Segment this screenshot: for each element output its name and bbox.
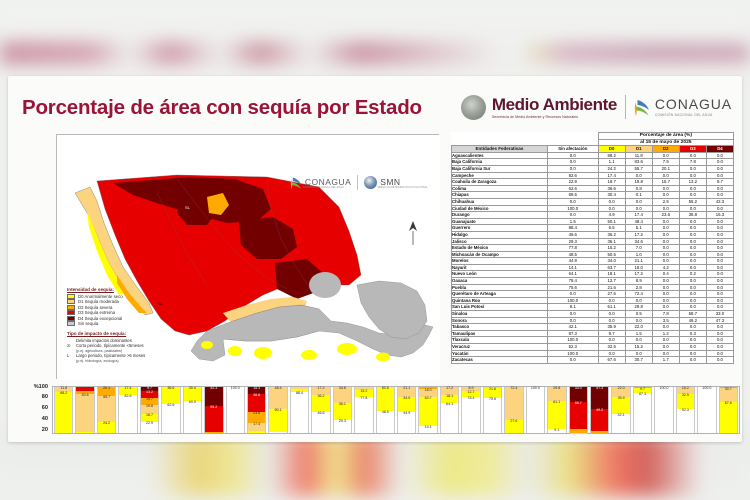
blurred-chart-bars — [150, 434, 750, 496]
bar-segment-value: 77.8 — [355, 397, 372, 401]
stacked-bar[interactable]: 21.134.044.9 — [397, 387, 416, 433]
column-header-d4[interactable]: D4 — [706, 146, 733, 153]
bar-slot[interactable]: 21.134.044.9 — [396, 387, 417, 433]
bar-segment-d2 — [205, 432, 222, 433]
table-row[interactable]: Baja California0.01.183.67.57.80.0 — [452, 159, 734, 166]
bar-segment-value: 27.6 — [505, 420, 522, 424]
cell-d2: 23.6 — [652, 212, 679, 219]
cell-sin-afectacion: 100.0 — [547, 350, 598, 357]
table-row[interactable]: Campeche82.617.40.00.00.00.0 — [452, 172, 734, 179]
bar-segment-d4: 47.3 — [591, 387, 608, 409]
bar-segment-value: 87.3 — [634, 393, 651, 397]
cell-d0: 88.2 — [598, 152, 625, 159]
bar-segment-value: 100.0 — [698, 387, 715, 391]
stacked-bar[interactable]: 18.063.714.1 — [418, 387, 437, 433]
bar-slot[interactable]: 17.236.246.6 — [310, 387, 331, 433]
column-header-d1[interactable]: D1 — [625, 146, 652, 153]
stacked-bar[interactable]: 30.767.6 — [719, 387, 738, 433]
cell-sin-afectacion: 100.0 — [547, 297, 598, 304]
bar-slot[interactable]: 20.155.724.2 — [96, 387, 117, 433]
cell-sin-afectacion: 0.0 — [547, 152, 598, 159]
table-row[interactable]: Puebla75.621.62.80.00.00.0 — [452, 284, 734, 291]
bar-slot[interactable]: 33.058.7 — [568, 387, 589, 433]
table-row[interactable]: Michoacán de Ocampo48.550.51.00.00.00.0 — [452, 251, 734, 258]
cell-d4: 0.0 — [706, 324, 733, 331]
bar-segment-sin-afectación: 87.3 — [634, 393, 651, 433]
cell-d4: 0.0 — [706, 284, 733, 291]
impact-label-2: Largo periodo, típicamente >6 meses — [76, 353, 145, 358]
cell-state-name: Oaxaca — [452, 278, 548, 285]
bar-slot[interactable]: 100.0 — [653, 387, 674, 433]
bar-segment-d1: 55.7 — [98, 396, 115, 422]
cell-d1: 18.0 — [625, 264, 652, 271]
bar-segment-value: 52.3 — [677, 409, 694, 413]
bar-segment-value: 15.2 — [677, 387, 694, 391]
bar-segment-value: 17.4 — [248, 423, 265, 427]
stacked-bar[interactable]: 17.236.246.6 — [311, 387, 330, 433]
stacked-bar[interactable]: 34.636.129.3 — [333, 387, 352, 433]
bar-segment-value: 18.1 — [441, 395, 458, 399]
bar-segment-d1: 48.4 — [269, 387, 286, 409]
cell-d0: 36.2 — [598, 231, 625, 238]
bar-slot[interactable]: 30.767.6 — [718, 387, 739, 433]
bar-segment-value: 36.2 — [312, 395, 329, 399]
bar-segment-d0: 50.5 — [377, 387, 394, 410]
bar-slot[interactable]: 34.636.129.3 — [332, 387, 353, 433]
table-row[interactable]: Morelos44.934.021.10.00.00.0 — [452, 258, 734, 265]
cell-sin-afectacion: 87.3 — [547, 330, 598, 337]
cell-state-name: Baja California — [452, 159, 548, 166]
stacked-bar[interactable]: 22.035.942.1 — [611, 387, 630, 433]
cell-d2: 0.0 — [652, 218, 679, 225]
bar-segment-d3: 55.2 — [205, 406, 222, 431]
cell-d1: 17.4 — [625, 212, 652, 219]
cell-d1: 30.7 — [625, 357, 652, 364]
cell-sin-afectacion: 75.6 — [547, 284, 598, 291]
legend-item: D2 Sequía severa — [67, 305, 123, 310]
cell-sin-afectacion: 88.4 — [547, 225, 598, 232]
table-row[interactable]: Yucatán100.00.00.00.00.00.0 — [452, 350, 734, 357]
bar-slot[interactable]: 15.232.552.3 — [675, 387, 696, 433]
cell-d3: 0.3 — [679, 330, 706, 337]
stacked-bar[interactable]: 47.349.2 — [590, 387, 609, 433]
table-row[interactable]: Guerrero88.46.55.10.00.00.0 — [452, 225, 734, 232]
cell-d0: 27.6 — [598, 291, 625, 298]
legend-swatch-d2 — [67, 305, 75, 310]
bar-segment-d3: 49.2 — [591, 409, 608, 432]
cell-d3: 0.0 — [679, 264, 706, 271]
stacked-bar[interactable]: 21.675.6 — [483, 387, 502, 433]
cell-sin-afectacion: 29.3 — [547, 238, 598, 245]
bar-segment-value: 82.6 — [119, 395, 136, 399]
bar-segment-value: 78.4 — [462, 397, 479, 401]
brand-header: Medio Ambiente Secretaría de Medio Ambie… — [461, 90, 732, 124]
y-tick-80: 80 — [42, 394, 48, 400]
map-conagua-label: CONAGUA — [305, 177, 351, 187]
impact-label-1: Corto periodo, típicamente <6meses — [76, 343, 144, 348]
bar-segment-sin-afectación: 82.6 — [119, 395, 136, 433]
column-header-d2[interactable]: D2 — [652, 146, 679, 153]
cell-sin-afectacion: 1.5 — [547, 218, 598, 225]
legend-label-d4: D4 Sequía excepcional — [78, 316, 122, 321]
cell-sin-afectacion: 69.5 — [547, 192, 598, 199]
stacked-bar[interactable]: 11.888.2 — [54, 387, 73, 433]
cell-d1: 0.0 — [625, 172, 652, 179]
column-header-d0[interactable]: D0 — [598, 146, 625, 153]
cell-d2: 1.7 — [652, 357, 679, 364]
cell-d3: 49.2 — [679, 317, 706, 324]
cell-d0: 4.9 — [598, 212, 625, 219]
table-row[interactable]: Nuevo León64.118.117.20.40.20.0 — [452, 271, 734, 278]
cell-d4: 0.0 — [706, 152, 733, 159]
cell-state-name: Nuevo León — [452, 271, 548, 278]
table-row[interactable]: Tlaxcala100.00.00.00.00.00.0 — [452, 337, 734, 344]
bar-segment-sin-afectación — [269, 432, 286, 433]
stacked-bar[interactable]: 50.548.5 — [376, 387, 395, 433]
bar-slot[interactable]: 100.0 — [696, 387, 717, 433]
cell-d2: 7.5 — [652, 159, 679, 166]
bar-segment-value: 67.6 — [720, 402, 737, 406]
map-legend: Intensidad de sequía: D0 Anormalmente se… — [67, 287, 123, 327]
bar-slot[interactable]: 42.355.2 — [203, 387, 224, 433]
cell-d4: 0.0 — [706, 337, 733, 344]
stacked-bar[interactable]: 8.912.778.4 — [461, 387, 480, 433]
bar-segment-sin-afectación: 48.5 — [377, 411, 394, 433]
bar-slot[interactable]: 83.6 — [74, 387, 95, 433]
table-row[interactable]: Querétaro de Arteaga0.027.672.40.00.00.0 — [452, 291, 734, 298]
stacked-bar[interactable]: 88.4 — [290, 387, 309, 433]
bar-segment-value: 33.0 — [570, 387, 587, 391]
bar-segment-value: 75.6 — [484, 398, 501, 402]
cell-d4: 42.3 — [706, 198, 733, 205]
ministry-name: Medio Ambiente — [492, 96, 617, 113]
drought-data-table: Porcentaje de área (%) al 15 de mayo de … — [451, 132, 734, 364]
cell-d2: 0.0 — [652, 337, 679, 344]
bar-slot[interactable]: 100.0 — [225, 387, 246, 433]
slide-surface: Porcentaje de área con sequía por Estado… — [8, 76, 742, 442]
bar-slot[interactable]: 9.713.215.719.818.722.9 — [139, 387, 160, 433]
stacked-bar[interactable]: 29.861.19.1 — [547, 387, 566, 433]
cell-sin-afectacion: 0.0 — [547, 198, 598, 205]
table-header-row: Entidades Federativas Sin afectación D0 … — [452, 146, 734, 153]
stacked-bar[interactable]: 9.787.3 — [633, 387, 652, 433]
table-row[interactable]: Sonora0.00.00.03.549.247.3 — [452, 317, 734, 324]
bar-segment-d3: 58.7 — [570, 402, 587, 429]
table-row[interactable]: Guanajuato1.550.148.40.00.00.0 — [452, 218, 734, 225]
column-header-d3[interactable]: D3 — [679, 146, 706, 153]
table-row[interactable]: Coahuila de Zaragoza22.918.719.815.713.2… — [452, 179, 734, 186]
cell-d4: 0.0 — [706, 330, 733, 337]
table-row[interactable]: Estado de México77.815.27.00.00.00.0 — [452, 245, 734, 252]
stacked-bar[interactable]: 20.155.724.2 — [97, 387, 116, 433]
table-row[interactable]: Veracruz52.332.515.20.00.00.0 — [452, 344, 734, 351]
cell-d1: 0.0 — [625, 297, 652, 304]
bar-slot[interactable]: 50.548.5 — [375, 387, 396, 433]
y-tick-100: %100 — [34, 384, 48, 390]
bar-slot[interactable]: 72.427.6 — [503, 387, 524, 433]
bar-segment-value: 20.1 — [98, 387, 115, 391]
bar-segment-value: 100.0 — [227, 387, 244, 391]
bar-segment-sin-afectación: 62.6 — [162, 404, 179, 433]
cell-d1: 5.1 — [625, 225, 652, 232]
bar-segment-d0: 35.9 — [612, 397, 629, 414]
bar-slot[interactable]: 100.0 — [525, 387, 546, 433]
bar-segment-value: 22.0 — [612, 387, 629, 391]
cell-state-name: Sonora — [452, 317, 548, 324]
bar-slot[interactable]: 47.349.2 — [589, 387, 610, 433]
bar-segment-value: 46.6 — [312, 412, 329, 416]
cell-d1: 0.8 — [625, 185, 652, 192]
legend-swatch-d1 — [67, 299, 75, 304]
cell-d3: 0.2 — [679, 271, 706, 278]
cell-d4: 9.7 — [706, 179, 733, 186]
cell-state-name: Quintana Roo — [452, 297, 548, 304]
stacked-bar[interactable]: 100.0 — [526, 387, 545, 433]
cell-sin-afectacion: 0.0 — [547, 317, 598, 324]
impact-key-2: L- — [67, 353, 76, 358]
bar-slot[interactable]: 36.662.6 — [160, 387, 181, 433]
bar-segment-sin-afectación: 14.1 — [419, 426, 436, 432]
bar-slot[interactable]: 29.861.19.1 — [546, 387, 567, 433]
cell-d0: 34.0 — [598, 258, 625, 265]
blurred-title-text — [0, 42, 500, 64]
y-tick-60: 60 — [42, 405, 48, 411]
cell-d3: 55.2 — [679, 198, 706, 205]
bar-segment-d0: 88.2 — [55, 392, 72, 433]
bar-segment-d0: 61.1 — [548, 401, 565, 429]
bar-segment-value: 83.6 — [76, 394, 93, 398]
bar-slot[interactable]: 15.277.8 — [353, 387, 374, 433]
bar-slot[interactable]: 17.482.6 — [117, 387, 138, 433]
cell-d4: 0.0 — [706, 245, 733, 252]
stacked-bar[interactable]: 15.338.823.617.4 — [247, 387, 266, 433]
table-row[interactable]: San Luis Potosí9.161.129.80.00.00.0 — [452, 304, 734, 311]
table-row[interactable]: Tabasco42.135.922.00.00.00.0 — [452, 324, 734, 331]
bar-segment-value: 18.0 — [419, 389, 436, 393]
stacked-bar[interactable]: 100.0 — [697, 387, 716, 433]
cell-d0: 0.0 — [598, 317, 625, 324]
table-row[interactable]: Aguascalientes0.088.211.80.00.00.0 — [452, 152, 734, 159]
map-impact-legend: Tipo de impacto de sequía: Delimita impa… — [67, 331, 145, 363]
stacked-bar[interactable]: 83.6 — [75, 387, 94, 433]
bar-slot[interactable]: 11.888.2 — [53, 387, 74, 433]
stacked-bar[interactable]: 36.662.6 — [161, 387, 180, 433]
bar-slot[interactable]: 21.675.6 — [482, 387, 503, 433]
cell-d1: 0.0 — [625, 350, 652, 357]
cell-d4: 0.0 — [706, 238, 733, 245]
cell-sin-afectacion: 0.0 — [547, 165, 598, 172]
legend-label-d2: D2 Sequía severa — [78, 305, 112, 310]
cell-sin-afectacion: 100.0 — [547, 205, 598, 212]
stacked-bar[interactable]: 17.482.6 — [118, 387, 137, 433]
cell-d4: 0.0 — [706, 159, 733, 166]
agency-name: CONAGUA — [655, 97, 732, 111]
bar-segment-value: 23.6 — [248, 412, 265, 416]
legend-item: D3 Sequía extrema — [67, 310, 123, 315]
column-header-sin-afectacion[interactable]: Sin afectación — [547, 146, 598, 153]
bar-segment-value: 34.6 — [334, 387, 351, 391]
cell-sin-afectacion: 100.0 — [547, 337, 598, 344]
cell-d4: 0.0 — [706, 205, 733, 212]
bar-slot[interactable]: 8.912.778.4 — [460, 387, 481, 433]
bar-slot[interactable]: 9.787.3 — [632, 387, 653, 433]
stacked-bar[interactable]: 17.218.164.1 — [440, 387, 459, 433]
bar-slot[interactable]: 15.338.823.617.4 — [246, 387, 267, 433]
bar-slot[interactable]: 18.063.714.1 — [417, 387, 438, 433]
bar-segment-d1: 72.4 — [505, 387, 522, 420]
cell-d1: 83.6 — [625, 159, 652, 166]
blurred-background-top — [0, 0, 750, 88]
cell-d1: 17.2 — [625, 231, 652, 238]
table-row[interactable]: Chihuahua0.00.00.02.555.242.3 — [452, 198, 734, 205]
table-row[interactable]: Jalisco29.336.134.60.00.00.0 — [452, 238, 734, 245]
cell-d2: 7.8 — [652, 311, 679, 318]
table-row[interactable]: Chiapas69.530.40.10.00.00.0 — [452, 192, 734, 199]
y-tick-40: 40 — [42, 416, 48, 422]
bar-slot[interactable]: 88.4 — [289, 387, 310, 433]
cell-d2: 3.5 — [652, 317, 679, 324]
bar-slot[interactable]: 22.035.942.1 — [610, 387, 631, 433]
cell-state-name: Colima — [452, 185, 548, 192]
table-row[interactable]: Nayarit14.163.718.04.20.00.0 — [452, 264, 734, 271]
cell-state-name: Jalisco — [452, 238, 548, 245]
cell-d0: 6.5 — [598, 225, 625, 232]
bar-segment-value: 69.5 — [184, 401, 201, 405]
cell-d0: 18.7 — [598, 179, 625, 186]
stacked-bar[interactable]: 42.355.2 — [204, 387, 223, 433]
bar-segment-value: 12.7 — [462, 391, 479, 395]
stacked-bar[interactable]: 100.0 — [654, 387, 673, 433]
table-row[interactable]: Colima62.636.60.80.00.00.0 — [452, 185, 734, 192]
cell-sin-afectacion: 77.8 — [547, 245, 598, 252]
cell-state-name: Zacatecas — [452, 357, 548, 364]
impact-label-0: Delimita impactos dominantes — [76, 338, 132, 343]
cell-state-name: Yucatán — [452, 350, 548, 357]
bar-segment-value: 30.4 — [184, 387, 201, 391]
cell-d4: 0.0 — [706, 350, 733, 357]
cell-d2: 0.0 — [652, 238, 679, 245]
cell-d3: 0.0 — [679, 344, 706, 351]
brand-divider — [625, 95, 626, 119]
cell-d4: 0.0 — [706, 258, 733, 265]
cell-d4: 0.0 — [706, 165, 733, 172]
cell-sin-afectacion: 46.6 — [547, 231, 598, 238]
bar-segment-value: 88.4 — [291, 392, 308, 396]
cell-state-name: Coahuila de Zaragoza — [452, 179, 548, 186]
cell-d3: 0.0 — [679, 245, 706, 252]
bar-slot[interactable]: 48.450.1 — [267, 387, 288, 433]
bar-slot[interactable]: 30.469.5 — [182, 387, 203, 433]
table-row[interactable]: Tamaulipas87.39.71.51.20.30.0 — [452, 330, 734, 337]
cell-d0: 21.6 — [598, 284, 625, 291]
cell-d0: 50.5 — [598, 251, 625, 258]
cell-d1: 0.0 — [625, 205, 652, 212]
cell-d1: 48.4 — [625, 218, 652, 225]
bar-segment-d0: 24.2 — [98, 422, 115, 433]
table-row[interactable]: Hidalgo46.636.217.20.00.00.0 — [452, 231, 734, 238]
cell-d2: 1.2 — [652, 330, 679, 337]
stacked-bar[interactable]: 15.232.552.3 — [676, 387, 695, 433]
cell-d2: 0.0 — [652, 251, 679, 258]
cell-d2: 15.7 — [652, 179, 679, 186]
bar-segment-value: 17.4 — [119, 387, 136, 391]
map-smn-label: SMN — [380, 177, 428, 187]
cell-d2: 0.0 — [652, 324, 679, 331]
cell-d2: 0.0 — [652, 350, 679, 357]
table-header-span: Porcentaje de área (%) — [598, 133, 733, 140]
bar-segment-value: 38.8 — [248, 394, 265, 398]
map-state-label: SL — [158, 301, 164, 306]
cell-d0: 35.9 — [598, 324, 625, 331]
cell-d4: 0.0 — [706, 357, 733, 364]
cell-d3: 0.0 — [679, 337, 706, 344]
legend-item: Sin sequía — [67, 321, 123, 326]
stacked-bar[interactable]: 100.0 — [226, 387, 245, 433]
cell-d0: 67.6 — [598, 357, 625, 364]
table-header-row: al 15 de mayo de 2025 — [452, 139, 734, 146]
cell-d3: 38.8 — [679, 212, 706, 219]
stacked-bar[interactable]: 9.713.215.719.818.722.9 — [140, 387, 159, 433]
table-row[interactable]: Quintana Roo100.00.00.00.00.00.0 — [452, 297, 734, 304]
table-row[interactable]: Sinaloa0.00.00.57.858.733.0 — [452, 311, 734, 318]
cell-state-name: Estado de México — [452, 245, 548, 252]
bar-segment-sin-afectación: 52.3 — [677, 409, 694, 433]
cell-d3: 0.0 — [679, 278, 706, 285]
bar-segment-value: 19.8 — [141, 405, 158, 409]
stacked-bar[interactable]: 30.469.5 — [183, 387, 202, 433]
stacked-bar[interactable]: 15.277.8 — [354, 387, 373, 433]
bar-segment-value: 48.5 — [377, 411, 394, 415]
cell-d0: 36.6 — [598, 185, 625, 192]
blurred-brand-text — [520, 44, 750, 62]
stacked-bar[interactable]: 33.058.7 — [569, 387, 588, 433]
cell-d3: 0.0 — [679, 165, 706, 172]
cell-d1: 1.0 — [625, 251, 652, 258]
cell-d3: 0.0 — [679, 231, 706, 238]
cell-state-name: Puebla — [452, 284, 548, 291]
cell-d1: 2.8 — [625, 284, 652, 291]
table-row[interactable]: Baja California Sur0.024.255.720.10.00.0 — [452, 165, 734, 172]
impact-legend-title: Tipo de impacto de sequía: — [67, 331, 145, 336]
table-row[interactable]: Zacatecas0.067.630.71.70.00.0 — [452, 357, 734, 364]
cell-d1: 0.0 — [625, 317, 652, 324]
bar-slot[interactable]: 17.218.164.1 — [439, 387, 460, 433]
cell-d4: 0.0 — [706, 172, 733, 179]
bar-segment-d0 — [76, 432, 93, 433]
cell-d3: 0.0 — [679, 218, 706, 225]
cell-d2: 20.1 — [652, 165, 679, 172]
stacked-bar[interactable]: 72.427.6 — [504, 387, 523, 433]
cell-d2: 0.0 — [652, 225, 679, 232]
cell-state-name: Veracruz — [452, 344, 548, 351]
cell-d1: 34.6 — [625, 238, 652, 245]
stacked-bar[interactable]: 48.450.1 — [268, 387, 287, 433]
cell-d2: 4.2 — [652, 264, 679, 271]
chart-plot-area: 11.888.283.620.155.724.217.482.69.713.21… — [52, 386, 740, 434]
legend-item: D4 Sequía excepcional — [67, 316, 123, 321]
table-row[interactable]: Oaxaca78.412.78.90.00.00.0 — [452, 278, 734, 285]
cell-d4: 47.3 — [706, 317, 733, 324]
table-row[interactable]: Ciudad de México100.00.00.00.00.00.0 — [452, 205, 734, 212]
legend-label-d3: D3 Sequía extrema — [78, 310, 115, 315]
column-header-entidad[interactable]: Entidades Federativas — [452, 146, 548, 153]
table-row[interactable]: Durango0.04.917.423.638.815.3 — [452, 212, 734, 219]
cell-d2: 0.0 — [652, 231, 679, 238]
bar-segment-value: 50.5 — [377, 387, 394, 391]
bar-segment-value: 13.2 — [141, 391, 158, 395]
bar-segment-value: 15.2 — [355, 390, 372, 394]
cell-state-name: Sinaloa — [452, 311, 548, 318]
